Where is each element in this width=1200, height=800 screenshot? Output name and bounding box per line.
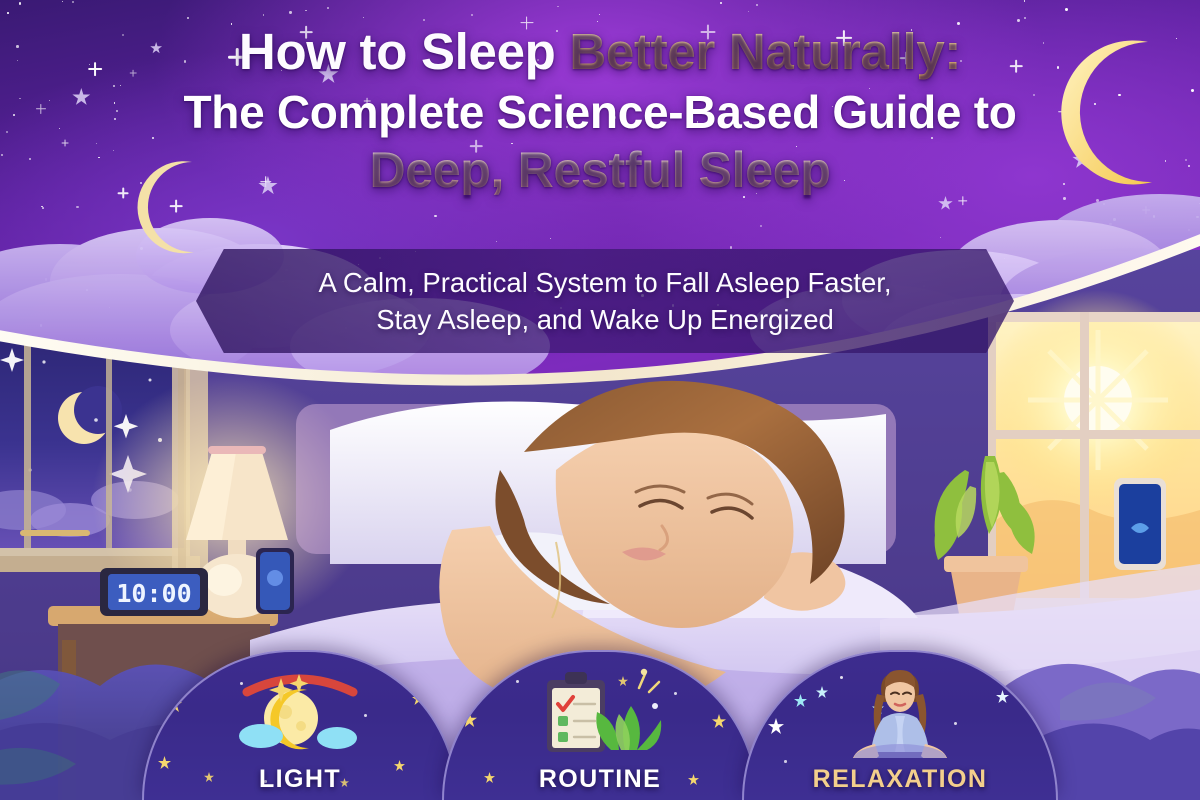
poster-title-block: How to Sleep Better Naturally: The Compl…: [0, 26, 1200, 195]
nightstand-smartphone: [256, 548, 294, 614]
alarm-clock-time: 10:00: [116, 579, 191, 608]
feature-badges: LIGHT: [0, 640, 1200, 800]
title-line-1-part-2: Better Naturally:: [569, 23, 961, 80]
subtitle-line-1: A Calm, Practical System to Fall Asleep …: [318, 264, 891, 301]
windowsill-smartphone: [1114, 478, 1166, 570]
badge-relaxation[interactable]: RELAXATION: [742, 650, 1058, 800]
badge-routine[interactable]: ROUTINE: [442, 650, 758, 800]
alarm-clock: 10:00: [100, 568, 208, 616]
moon-clouds-icon: [225, 666, 375, 758]
title-line-3: Deep, Restful Sleep: [0, 145, 1200, 195]
badge-relaxation-label: RELAXATION: [744, 765, 1056, 794]
title-line-2: The Complete Science-Based Guide to: [0, 89, 1200, 135]
sleep-guide-poster: 10:00: [0, 0, 1200, 800]
badge-light[interactable]: LIGHT: [142, 650, 458, 800]
title-line-1-part-1: How to Sleep: [239, 23, 569, 80]
badge-routine-label: ROUTINE: [444, 765, 756, 794]
subtitle-line-2: Stay Asleep, and Wake Up Energized: [376, 301, 834, 338]
subtitle-banner: A Calm, Practical System to Fall Asleep …: [196, 249, 1014, 353]
title-line-1: How to Sleep Better Naturally:: [0, 26, 1200, 77]
clipboard-plant-icon: [525, 666, 675, 758]
meditating-woman-icon: [825, 666, 975, 758]
badge-light-label: LIGHT: [144, 765, 456, 794]
